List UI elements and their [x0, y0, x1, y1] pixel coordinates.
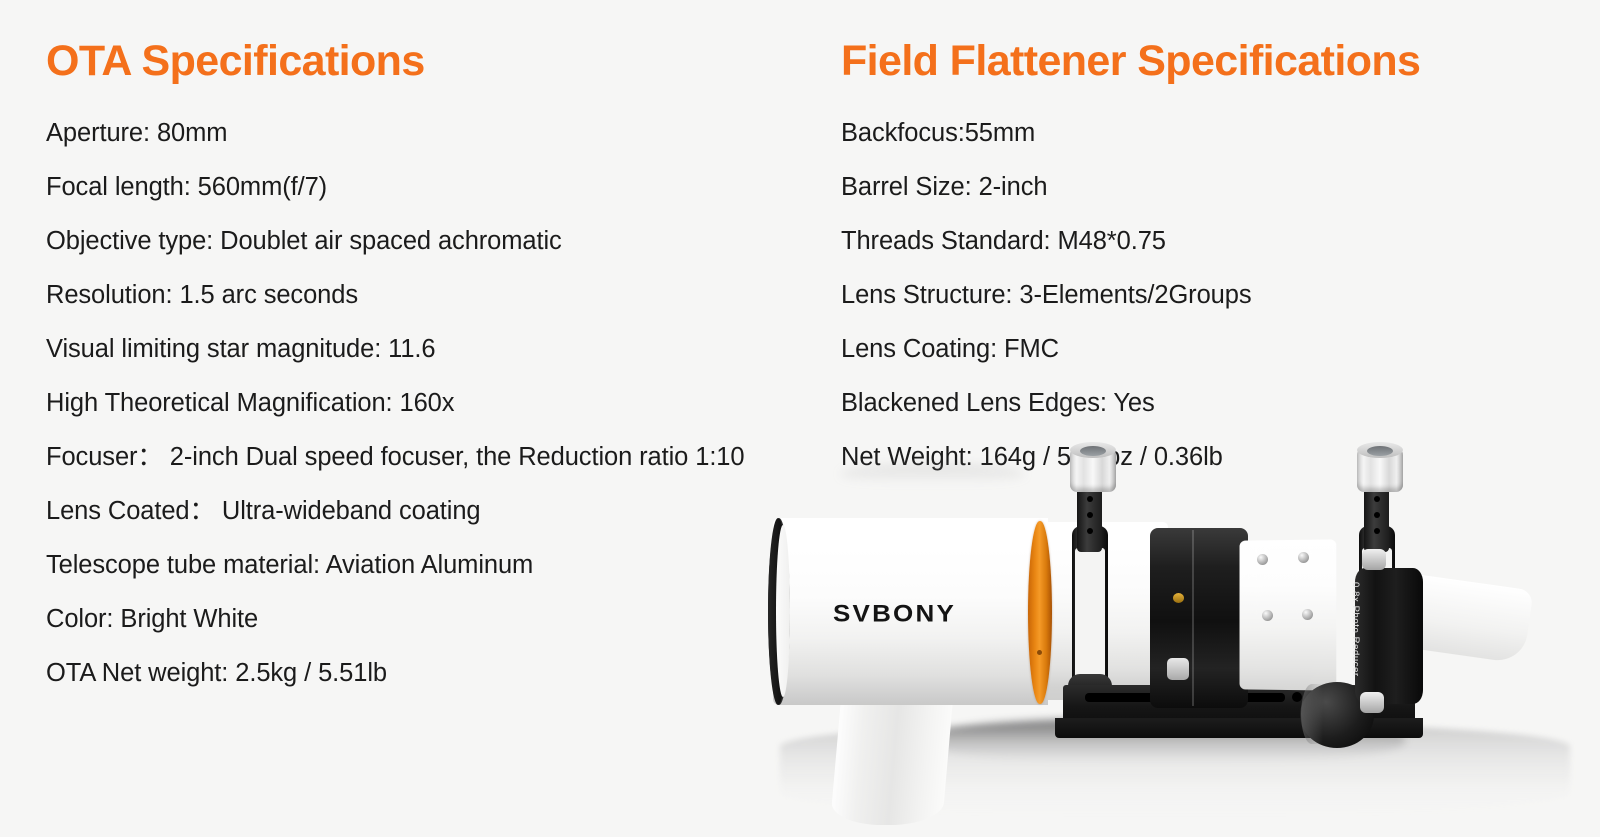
focuser-body [1240, 539, 1337, 690]
ring-arm-hole [1374, 512, 1380, 518]
reducer-rear-barrel [1404, 574, 1533, 664]
spec-item-backfocus: Backfocus:55mm [841, 106, 1561, 160]
field-flattener-specifications-heading: Field Flattener Specifications [841, 40, 1561, 83]
ring-arm-hole [1374, 496, 1380, 502]
spec-item-color: Color: Bright White [46, 592, 826, 646]
flattener-spec-list: Backfocus:55mm Barrel Size: 2-inch Threa… [841, 106, 1561, 484]
spec-item-aperture: Aperture: 80mm [46, 106, 826, 160]
ota-specifications-heading: OTA Specifications [46, 40, 826, 83]
band-screw [1037, 650, 1042, 655]
ring-arm-hole [1374, 528, 1380, 534]
focuser-screw [1298, 552, 1309, 563]
ring-band-inner [1075, 548, 1105, 688]
ring-arm [1364, 482, 1389, 552]
spec-item-threads-standard: Threads Standard: M48*0.75 [841, 214, 1561, 268]
spec-item-visual-limiting-magnitude: Visual limiting star magnitude: 11.6 [46, 322, 826, 376]
spec-item-focal-length: Focal length: 560mm(f/7) [46, 160, 826, 214]
telescope-product-image: SVBONY [745, 470, 1600, 837]
focuser-screw [1262, 610, 1273, 621]
ring-clamp-knob-bore [1080, 446, 1106, 456]
photo-reducer-label: 0.8x Photo Reducer [1350, 582, 1361, 692]
spec-item-blackened-lens-edges: Blackened Lens Edges: Yes [841, 376, 1561, 430]
ota-spec-list: Aperture: 80mm Focal length: 560mm(f/7) … [46, 106, 826, 700]
focuser-lock-screw[interactable] [1167, 658, 1189, 680]
spec-item-tube-material: Telescope tube material: Aviation Alumin… [46, 538, 826, 592]
ring-arm-hole [1087, 512, 1093, 518]
spec-item-objective-type: Objective type: Doublet air spaced achro… [46, 214, 826, 268]
dovetail-hole [1292, 692, 1302, 702]
objective-lens-edge [776, 525, 790, 697]
ota-specifications-section: OTA Specifications Aperture: 80mm Focal … [46, 40, 826, 700]
focuser-screw [1257, 554, 1268, 565]
spec-item-resolution: Resolution: 1.5 arc seconds [46, 268, 826, 322]
ring-clamp-knob-bore [1367, 446, 1393, 456]
spec-item-ota-net-weight: OTA Net weight: 2.5kg / 5.51lb [46, 646, 826, 700]
spec-page: OTA Specifications Aperture: 80mm Focal … [0, 0, 1600, 837]
ring-arm-hole [1087, 528, 1093, 534]
spec-item-lens-structure: Lens Structure: 3-Elements/2Groups [841, 268, 1561, 322]
orange-accent-band [1028, 521, 1052, 704]
spec-item-barrel-size: Barrel Size: 2-inch [841, 160, 1561, 214]
focus-knob-highlight [1301, 684, 1323, 744]
spec-item-lens-coated: Lens Coated： Ultra-wideband coating [46, 484, 826, 538]
spec-item-lens-coating: Lens Coating: FMC [841, 322, 1561, 376]
spec-item-focuser: Focuser： 2-inch Dual speed focuser, the … [46, 430, 826, 484]
background-blur [840, 464, 1025, 484]
spec-item-magnification: High Theoretical Magnification: 160x [46, 376, 826, 430]
field-flattener-specifications-section: Field Flattener Specifications Backfocus… [841, 40, 1561, 484]
focuser-seam [1192, 530, 1194, 706]
reducer-thumb-screw[interactable] [1360, 692, 1384, 713]
focuser-rear-cell [1150, 528, 1248, 708]
ring-arm [1077, 482, 1102, 552]
photo-reducer-ring [1355, 568, 1423, 704]
brass-screw [1173, 593, 1184, 603]
svbony-logo: SVBONY [833, 599, 956, 628]
reducer-thumb-screw[interactable] [1362, 549, 1386, 570]
ring-arm-hole [1087, 496, 1093, 502]
focuser-screw [1302, 609, 1313, 620]
